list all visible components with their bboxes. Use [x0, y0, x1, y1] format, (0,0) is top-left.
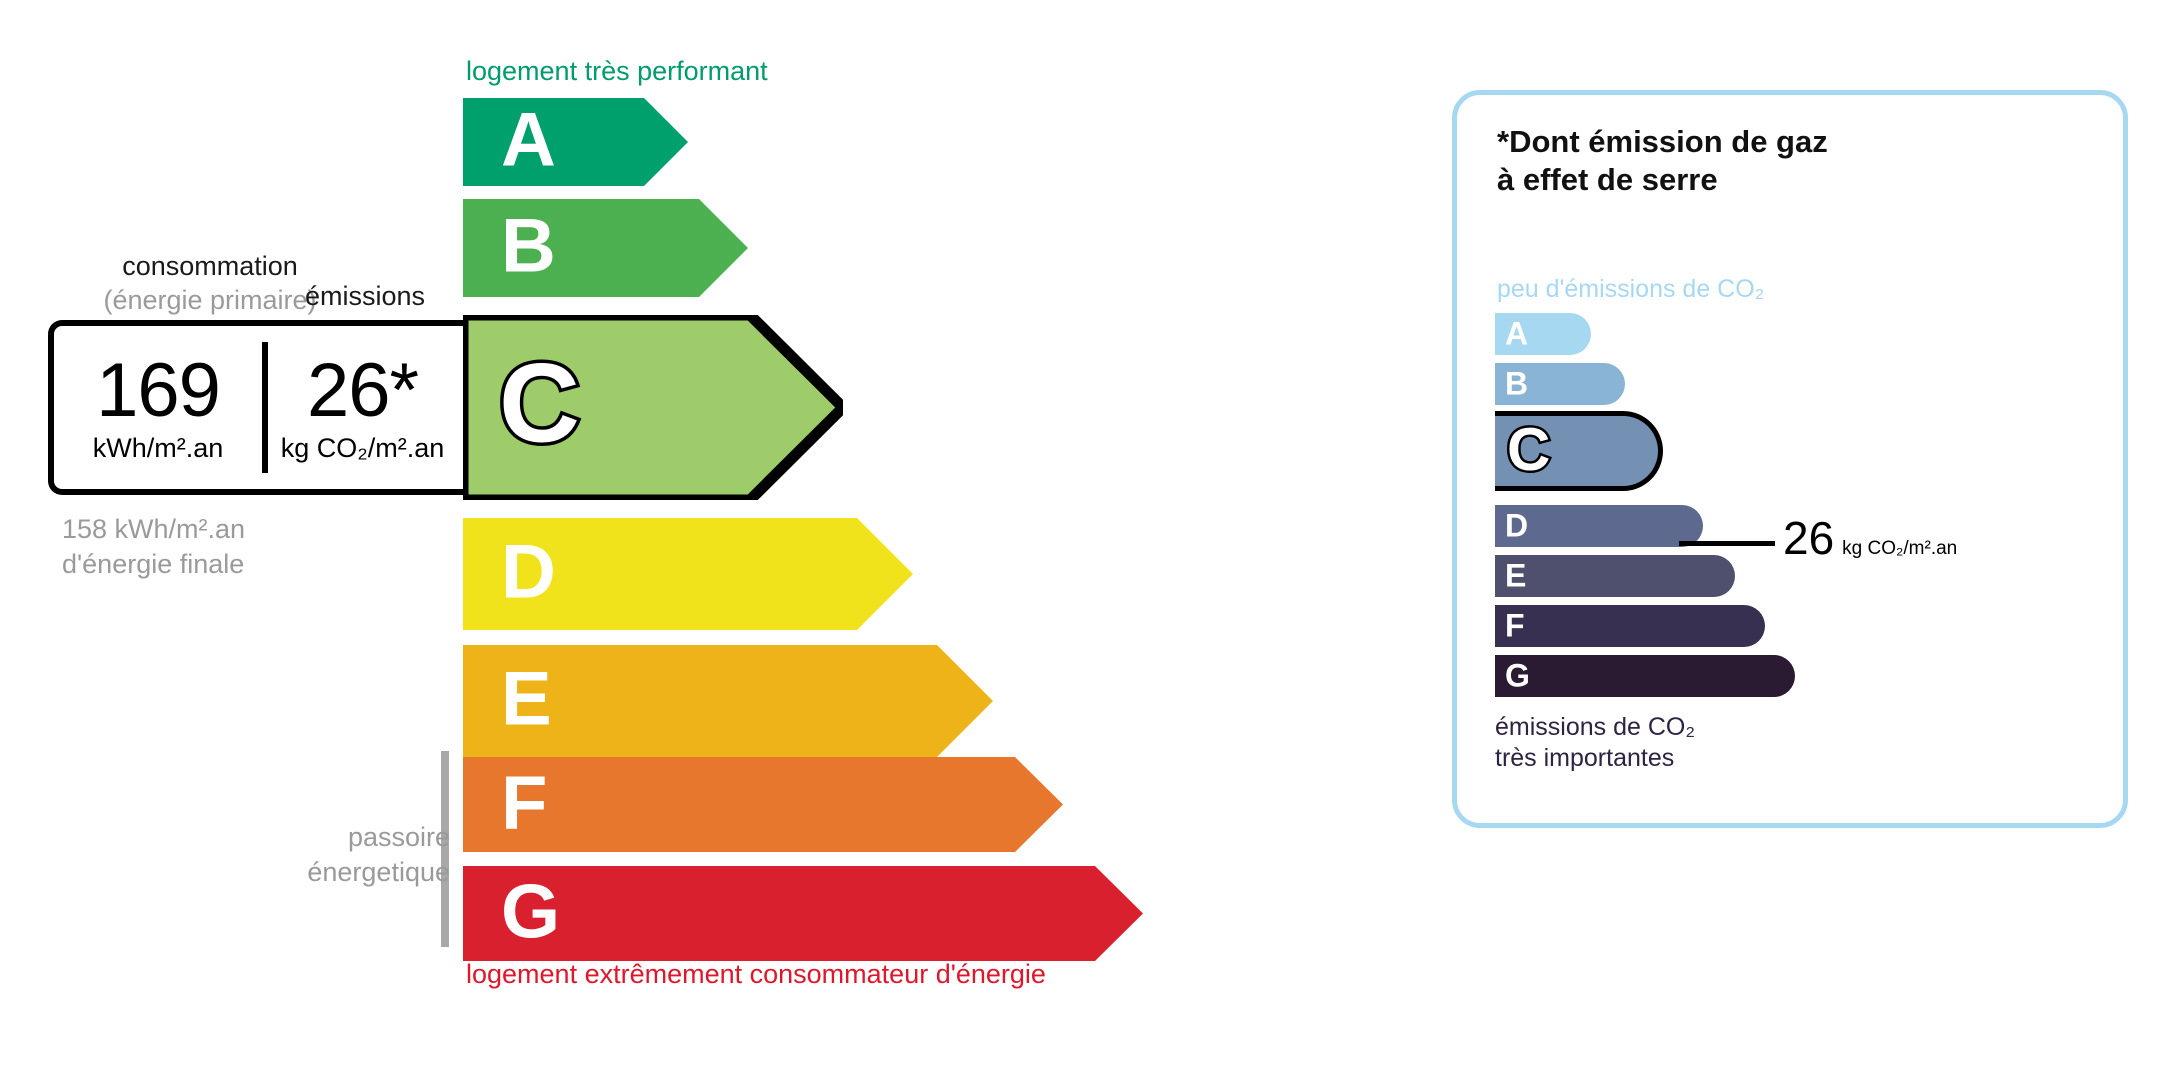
energy-band-letter-d: D: [501, 534, 556, 610]
co2-bar-f[interactable]: F: [1495, 605, 1765, 647]
co2-title-line1: *Dont émission de gaz: [1497, 123, 1828, 161]
final-energy-line2: d'énergie finale: [62, 547, 245, 582]
co2-bar-b[interactable]: B: [1495, 363, 1625, 405]
energy-band-b[interactable]: B: [463, 199, 748, 297]
co2-callout: 26 kg CO₂/m².an: [1783, 515, 1957, 561]
passoire-energetique-label: passoire énergetique: [200, 820, 450, 889]
co2-bar-letter-a: A: [1505, 317, 1528, 349]
passoire-line2: énergetique: [200, 855, 450, 890]
energy-band-a[interactable]: A: [463, 98, 688, 186]
co2-bar-letter-c: C: [1507, 420, 1550, 480]
primary-energy-cell: 169 kWh/m².an: [54, 326, 262, 489]
energy-band-g[interactable]: G: [463, 866, 1143, 961]
primary-energy-unit: kWh/m².an: [93, 433, 224, 464]
final-energy-note: 158 kWh/m².an d'énergie finale: [62, 512, 245, 581]
co2-bar-letter-d: D: [1505, 509, 1528, 541]
co2-emissions-cell: 26* kg CO₂/m².an: [262, 326, 463, 489]
primary-energy-value: 169: [96, 355, 220, 426]
energy-band-d[interactable]: D: [463, 518, 913, 630]
energy-band-letter-e: E: [501, 661, 552, 737]
co2-panel-title: *Dont émission de gaz à effet de serre: [1497, 123, 1828, 199]
co2-bar-e[interactable]: E: [1495, 555, 1735, 597]
final-energy-line1: 158 kWh/m².an: [62, 512, 245, 547]
energy-band-letter-b: B: [501, 208, 556, 284]
consumption-label-main: consommation: [122, 251, 298, 281]
co2-caption-bottom: émissions de CO₂ très importantes: [1495, 712, 1695, 773]
co2-bar-g[interactable]: G: [1495, 655, 1795, 697]
co2-bar-fill-e: E: [1495, 555, 1735, 597]
chart-caption-top: logement très performant: [466, 56, 768, 87]
co2-callout-unit: kg CO₂/m².an: [1842, 538, 1957, 560]
co2-bar-a[interactable]: A: [1495, 313, 1591, 355]
energy-band-arrow-f: [463, 757, 1063, 852]
co2-caption-bottom-line1: émissions de CO₂: [1495, 712, 1695, 743]
energy-band-e[interactable]: E: [463, 645, 993, 757]
co2-emissions-value: 26*: [307, 355, 418, 426]
co2-bar-fill-a: A: [1495, 313, 1591, 355]
co2-callout-leader-line: [1679, 541, 1775, 546]
co2-bar-d[interactable]: D: [1495, 505, 1703, 547]
energy-band-f[interactable]: F: [463, 757, 1063, 852]
co2-callout-value: 26: [1783, 515, 1834, 561]
co2-caption-top: peu d'émissions de CO₂: [1497, 275, 1764, 304]
value-box: 169 kWh/m².an 26* kg CO₂/m².an: [48, 320, 463, 495]
co2-panel: *Dont émission de gaz à effet de serre p…: [1452, 90, 2128, 828]
co2-bar-letter-g: G: [1505, 659, 1530, 691]
energy-band-letter-c: C: [499, 347, 580, 459]
passoire-line1: passoire: [200, 820, 450, 855]
co2-bar-letter-b: B: [1505, 367, 1528, 399]
energy-band-arrow-a: [463, 98, 688, 186]
energy-performance-chart: logement très performant consommation (é…: [0, 0, 1400, 1079]
energy-band-c[interactable]: C: [463, 315, 843, 500]
emissions-label: émissions: [305, 281, 425, 312]
co2-emissions-unit: kg CO₂/m².an: [281, 433, 445, 464]
co2-bar-letter-e: E: [1505, 559, 1526, 591]
chart-caption-bottom: logement extrêmement consommateur d'éner…: [466, 959, 1046, 990]
co2-bar-c[interactable]: C: [1495, 411, 1663, 491]
energy-band-letter-g: G: [501, 874, 560, 950]
co2-bar-fill-g: G: [1495, 655, 1795, 697]
co2-bar-fill-c: C: [1495, 411, 1663, 491]
co2-bar-fill-b: B: [1495, 363, 1625, 405]
energy-band-letter-f: F: [501, 765, 547, 841]
co2-bar-fill-d: D: [1495, 505, 1703, 547]
co2-bar-fill-f: F: [1495, 605, 1765, 647]
energy-band-arrow-g: [463, 866, 1143, 961]
co2-bar-letter-f: F: [1505, 609, 1525, 641]
co2-caption-bottom-line2: très importantes: [1495, 743, 1695, 774]
energy-band-letter-a: A: [501, 102, 556, 178]
co2-title-line2: à effet de serre: [1497, 161, 1828, 199]
